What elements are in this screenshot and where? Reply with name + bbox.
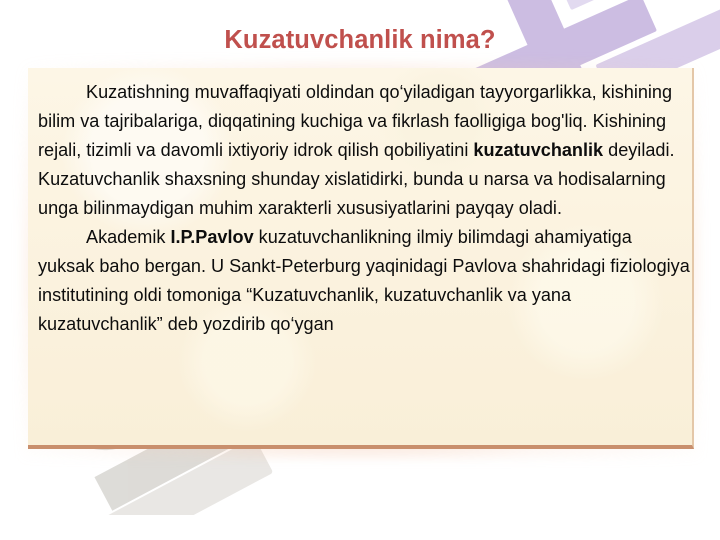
paragraph: Kuzatishning muvaffaqiyati oldindan qo‘y… [38, 78, 690, 223]
slide-canvas: Kuzatuvchanlik nima? Kuzatishning muvaff… [0, 0, 720, 540]
body-text: Kuzatishning muvaffaqiyati oldindan qo‘y… [38, 78, 690, 339]
text-run: Akademik [86, 227, 170, 247]
emphasis-text: kuzatuvchanlik [473, 140, 603, 160]
emphasis-text: I.P.Pavlov [170, 227, 253, 247]
page-title: Kuzatuvchanlik nima? [0, 26, 720, 55]
paragraph: Akademik I.P.Pavlov kuzatuvchanlikning i… [38, 223, 690, 339]
